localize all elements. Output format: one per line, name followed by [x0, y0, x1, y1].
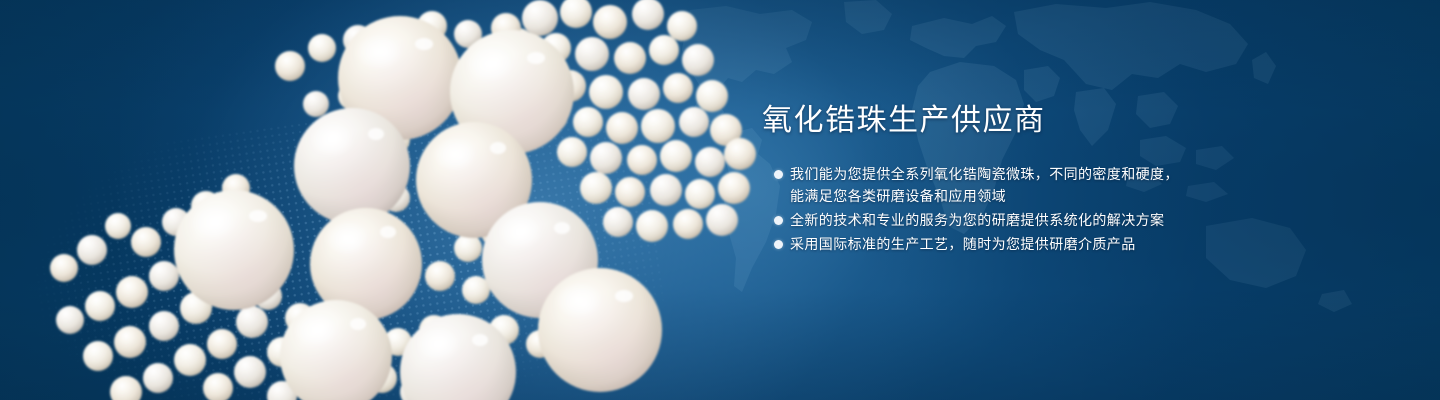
bullet-dot-icon — [774, 216, 783, 225]
list-item-line-2: 能满足您各类研磨设备和应用领域 — [790, 185, 1322, 207]
feature-list: 我们能为您提供全系列氧化锆陶瓷微珠，不同的密度和硬度， 能满足您各类研磨设备和应… — [762, 163, 1322, 255]
page-title: 氧化锆珠生产供应商 — [762, 104, 1322, 139]
bullet-dot-icon — [774, 170, 783, 179]
list-item-line-1: 我们能为您提供全系列氧化锆陶瓷微珠，不同的密度和硬度， — [790, 166, 1179, 182]
list-item: 全新的技术和专业的服务为您的研磨提供系统化的解决方案 — [762, 209, 1322, 231]
banner-copy: 氧化锆珠生产供应商 我们能为您提供全系列氧化锆陶瓷微珠，不同的密度和硬度， 能满… — [762, 104, 1322, 257]
list-item-line-1: 全新的技术和专业的服务为您的研磨提供系统化的解决方案 — [790, 212, 1164, 228]
list-item: 采用国际标准的生产工艺，随时为您提供研磨介质产品 — [762, 233, 1322, 255]
list-item: 我们能为您提供全系列氧化锆陶瓷微珠，不同的密度和硬度， 能满足您各类研磨设备和应… — [762, 163, 1322, 207]
list-item-line-1: 采用国际标准的生产工艺，随时为您提供研磨介质产品 — [790, 236, 1136, 252]
hero-banner: 氧化锆珠生产供应商 我们能为您提供全系列氧化锆陶瓷微珠，不同的密度和硬度， 能满… — [0, 0, 1440, 400]
zirconia-bead-image — [0, 0, 760, 400]
bullet-dot-icon — [774, 240, 783, 249]
